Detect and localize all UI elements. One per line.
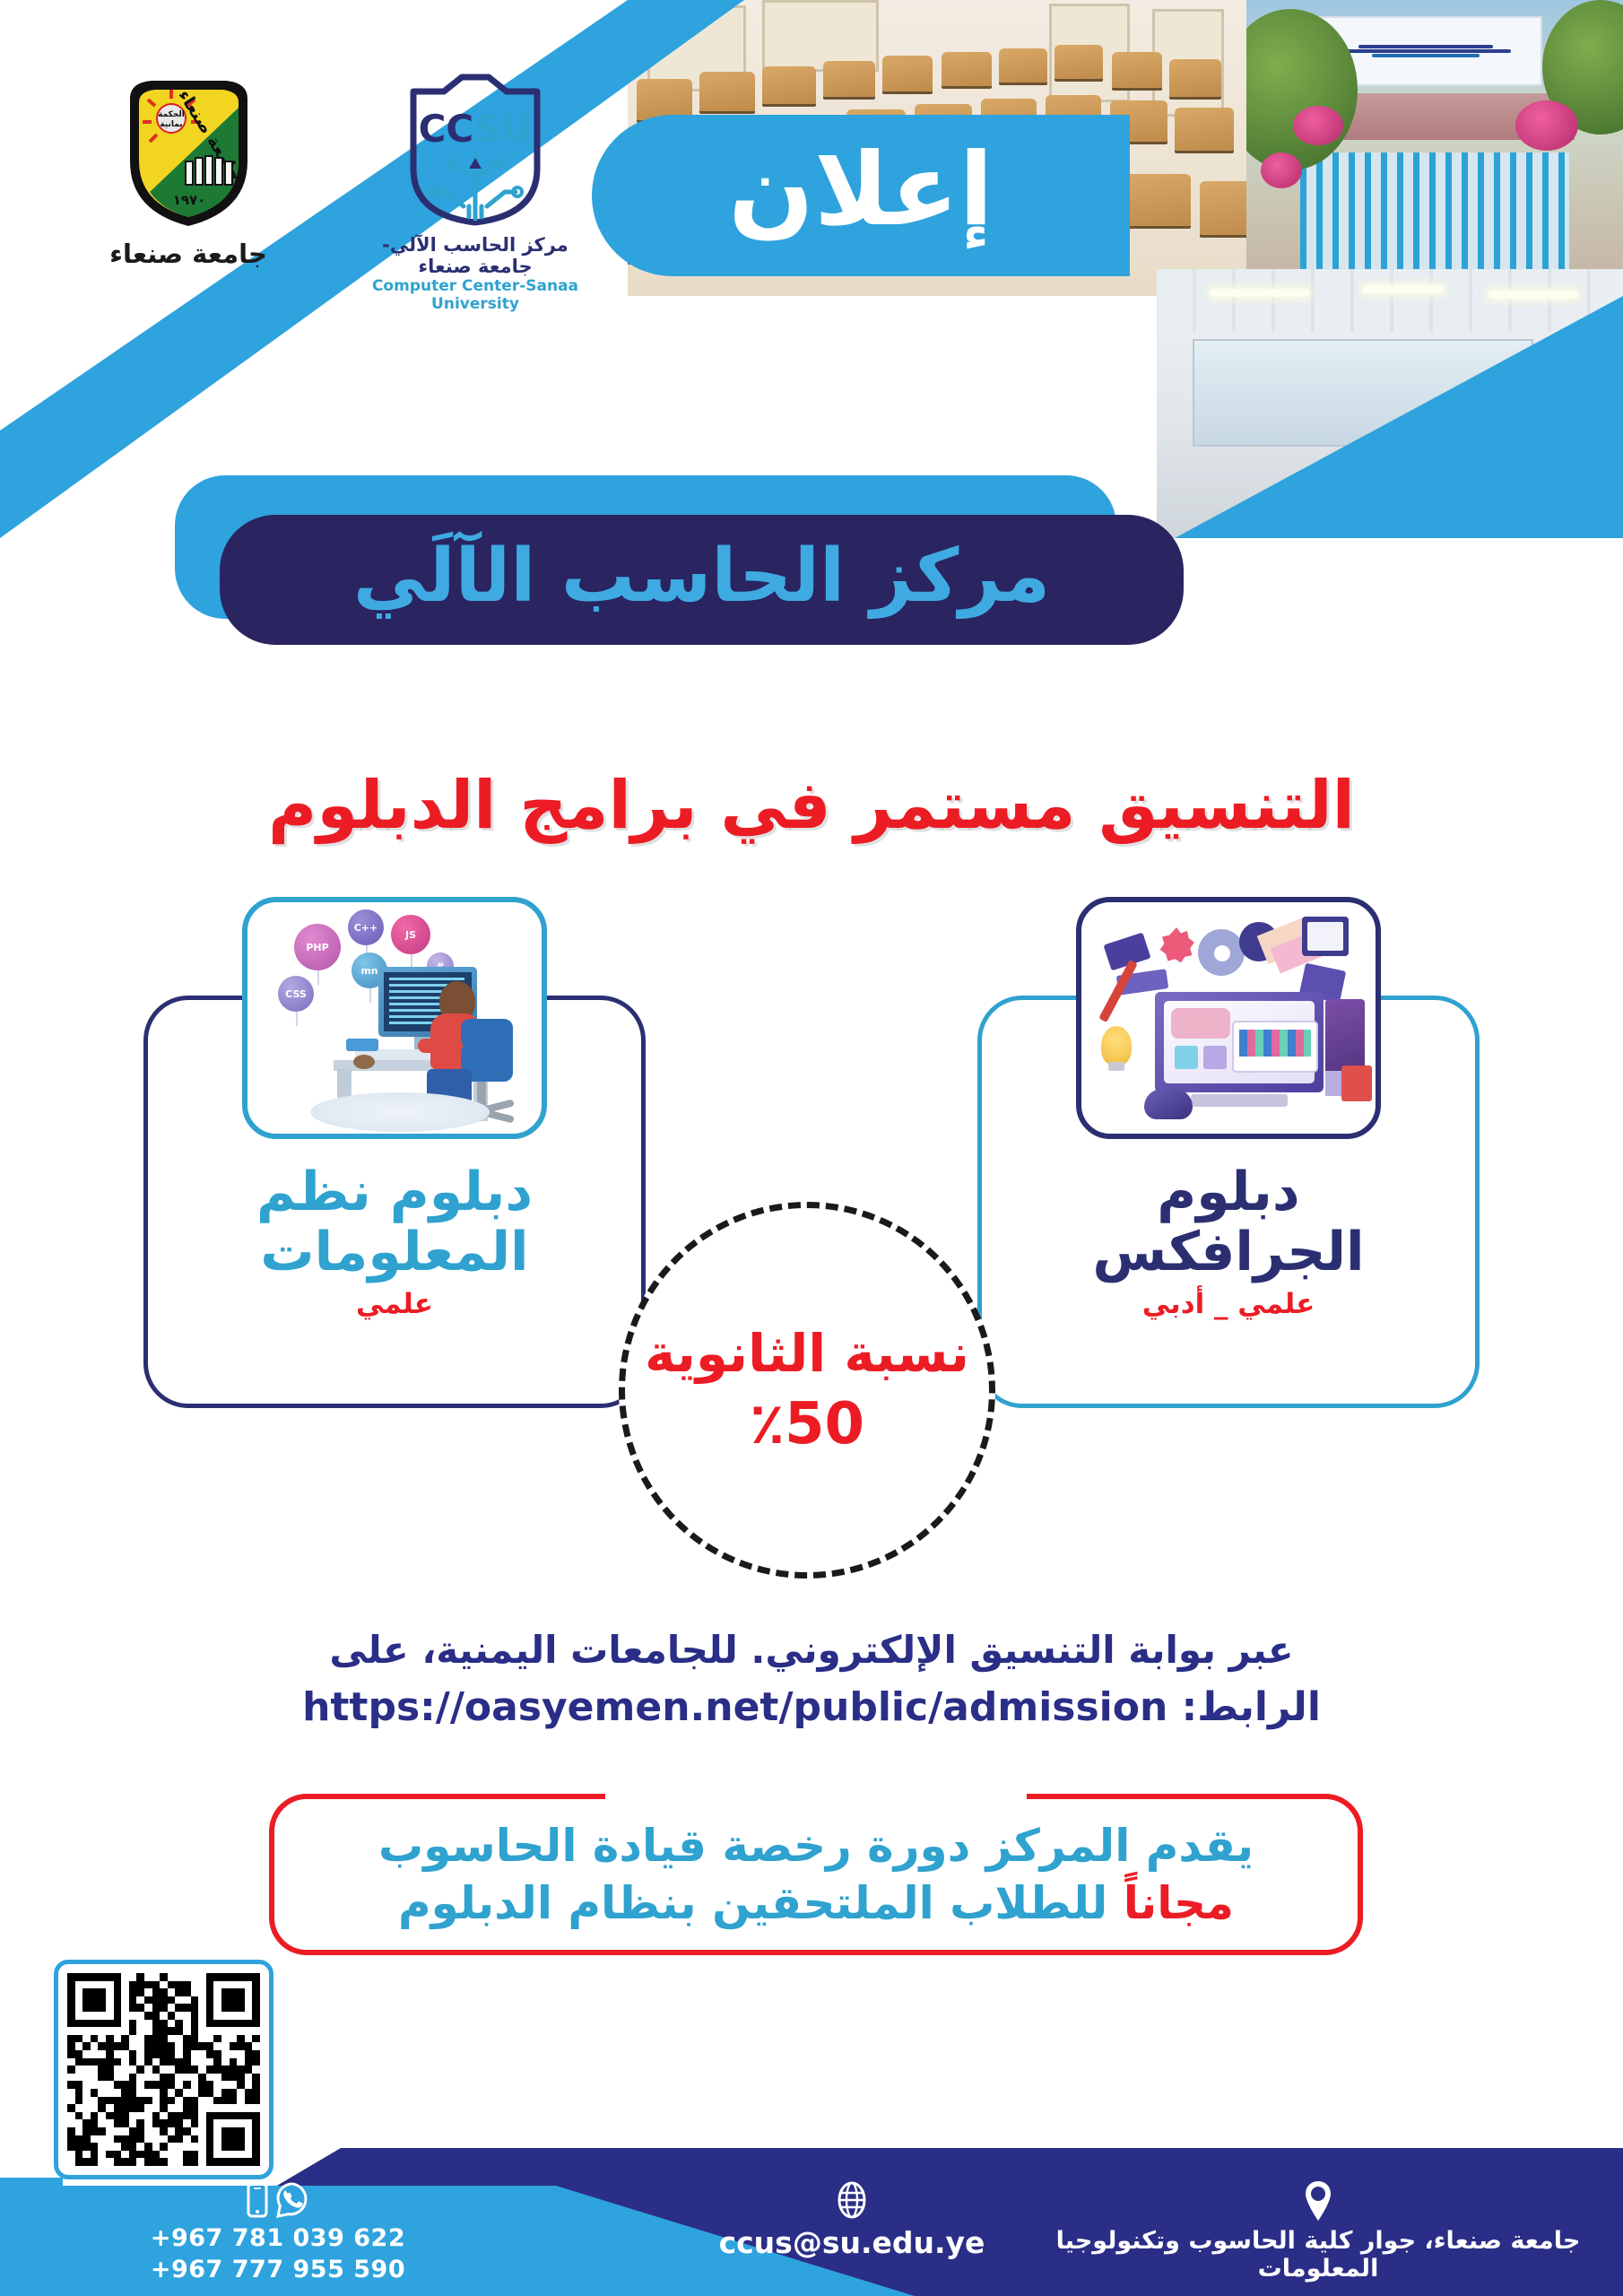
footer-email-text[interactable]: ccus@su.edu.ye xyxy=(664,2225,1040,2260)
program-title-line2: الجرافكس xyxy=(977,1222,1480,1283)
ccsu-caption-ar: مركز الحاسب الآلي-جامعة صنعاء xyxy=(359,234,592,277)
qr-code-pattern xyxy=(67,1973,260,2166)
headline: التنسيق مستمر في برامج الدبلوم xyxy=(0,767,1623,844)
offer-line2-rest: للطلاب الملتحقين بنظام الدبلوم xyxy=(398,1877,1107,1929)
ccsu-logo: CCSU مركز الحاسب الآلي-جامعة صنعاء xyxy=(359,72,592,313)
svg-text:١٩٧٠: ١٩٧٠ xyxy=(172,192,205,208)
program-title-information-systems: دبلوم نظم المعلومات xyxy=(143,1162,646,1283)
main-title-banner: مركز الحاسب الآلَي xyxy=(175,475,1184,646)
title-banner-navy-layer: مركز الحاسب الآلَي xyxy=(220,515,1184,645)
footer-phone-2[interactable]: +967 777 955 590 xyxy=(81,2255,475,2286)
portal-info: عبر بوابة التنسيق الإلكتروني. للجامعات ا… xyxy=(0,1628,1623,1730)
footer-address: جامعة صنعاء، جوار كلية الحاسوب وتكنولوجي… xyxy=(1040,2179,1596,2283)
qr-code[interactable] xyxy=(54,1960,273,2179)
logo-row: CCSU مركز الحاسب الآلي-جامعة صنعاء xyxy=(36,72,592,269)
requirement-label: نسبة الثانوية xyxy=(645,1323,969,1384)
graphics-design-illustration xyxy=(1076,897,1381,1139)
page-title: مركز الحاسب الآلَي xyxy=(353,540,1050,613)
program-title-line1: دبلوم نظم xyxy=(143,1162,646,1222)
requirement-badge: نسبة الثانوية ٪50 xyxy=(619,1202,995,1578)
center-entrance-photo xyxy=(1246,0,1623,269)
program-eligibility-graphics: علمي _ أدبي xyxy=(977,1288,1480,1320)
ccsu-shield-icon: CCSU xyxy=(399,72,551,229)
footer-address-text: جامعة صنعاء، جوار كلية الحاسوب وتكنولوجي… xyxy=(1040,2227,1596,2283)
portal-link-label: الرابط: xyxy=(1182,1684,1321,1730)
location-pin-icon xyxy=(1040,2179,1596,2223)
headline-text: التنسيق مستمر في برامج الدبلوم xyxy=(268,767,1355,844)
svg-text:CCSU: CCSU xyxy=(419,107,533,151)
footer-phone-1[interactable]: +967 781 039 622 xyxy=(81,2223,475,2255)
red-box-notch xyxy=(605,1793,1027,1807)
portal-line1: عبر بوابة التنسيق الإلكتروني. للجامعات ا… xyxy=(0,1628,1623,1672)
portal-url[interactable]: https://oasyemen.net/public/admission xyxy=(302,1684,1167,1730)
footer-phones[interactable]: +967 781 039 622 +967 777 955 590 xyxy=(81,2180,475,2285)
program-title-line2: المعلومات xyxy=(143,1222,646,1283)
program-card-graphics[interactable]: دبلوم الجرافكس علمي _ أدبي xyxy=(977,897,1480,1320)
offer-free-word: مجاناً xyxy=(1124,1877,1234,1929)
ccsu-caption-en: Computer Center-Sanaa University xyxy=(359,277,592,313)
offer-line2: مجاناً للطلاب الملتحقين بنظام الدبلوم xyxy=(398,1877,1234,1929)
sanaa-university-logo: الحكمة يمانية جامعة صنعاء ١٩٧٠ جامعة صنع… xyxy=(72,72,305,269)
portal-link-row[interactable]: الرابط: https://oasyemen.net/public/admi… xyxy=(0,1684,1623,1730)
program-card-information-systems[interactable]: PHP C++ JS mn # CSS xyxy=(143,897,646,1320)
globe-icon xyxy=(664,2179,1040,2222)
announcement-badge-label: إعلان xyxy=(728,140,994,240)
programmer-at-desk-illustration: PHP C++ JS mn # CSS xyxy=(242,897,547,1139)
program-title-line1: دبلوم xyxy=(977,1162,1480,1222)
program-eligibility-information-systems: علمي xyxy=(143,1288,646,1320)
requirement-value: ٪50 xyxy=(750,1391,864,1457)
svg-text:الحكمة: الحكمة xyxy=(158,110,185,119)
offer-line1: يقدم المركز دورة رخصة قيادة الحاسوب xyxy=(378,1820,1254,1872)
sanaa-university-crest-icon: الحكمة يمانية جامعة صنعاء ١٩٧٠ xyxy=(119,72,258,233)
footer-email[interactable]: ccus@su.edu.ye xyxy=(664,2179,1040,2260)
svg-text:يمانية: يمانية xyxy=(160,120,182,129)
announcement-badge: إعلان xyxy=(592,115,1130,276)
sanaa-university-caption: جامعة صنعاء xyxy=(72,239,305,269)
free-course-box: يقدم المركز دورة رخصة قيادة الحاسوب مجان… xyxy=(269,1794,1363,1955)
program-title-graphics: دبلوم الجرافكس xyxy=(977,1162,1480,1283)
